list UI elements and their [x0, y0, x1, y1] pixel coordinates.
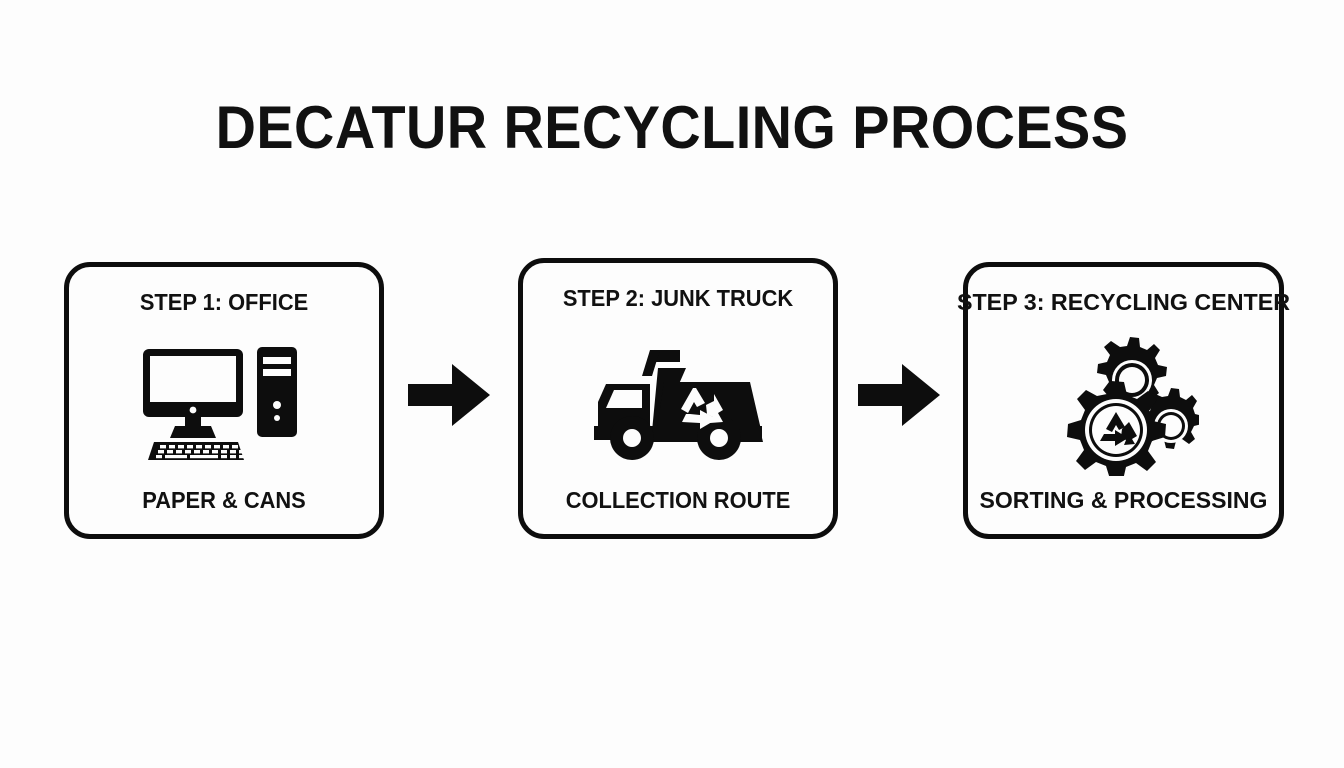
step-3-header: STEP 3: RECYCLING CENTER	[944, 289, 1303, 316]
step-card-1: STEP 1: OFFICE	[64, 262, 384, 539]
arrow-right-icon	[406, 362, 492, 433]
step-3-footer: SORTING & PROCESSING	[961, 487, 1285, 514]
step-card-2: STEP 2: JUNK TRUCK	[518, 258, 838, 539]
page-title: DECATUR RECYCLING PROCESS	[47, 96, 1297, 159]
step-card-3: STEP 3: RECYCLING CENTER	[963, 262, 1284, 539]
arrow-right-icon	[856, 362, 942, 433]
step-2-footer: COLLECTION ROUTE	[521, 487, 835, 514]
step-1-header: STEP 1: OFFICE	[58, 289, 391, 316]
gears-recycling-icon	[968, 334, 1279, 476]
diagram-canvas: DECATUR RECYCLING PROCESS STEP 1: OFFICE	[0, 0, 1344, 768]
dump-truck-recycling-icon	[523, 338, 833, 464]
step-2-header: STEP 2: JUNK TRUCK	[512, 285, 845, 312]
desktop-computer-icon	[69, 343, 379, 463]
step-1-footer: PAPER & CANS	[67, 487, 381, 514]
